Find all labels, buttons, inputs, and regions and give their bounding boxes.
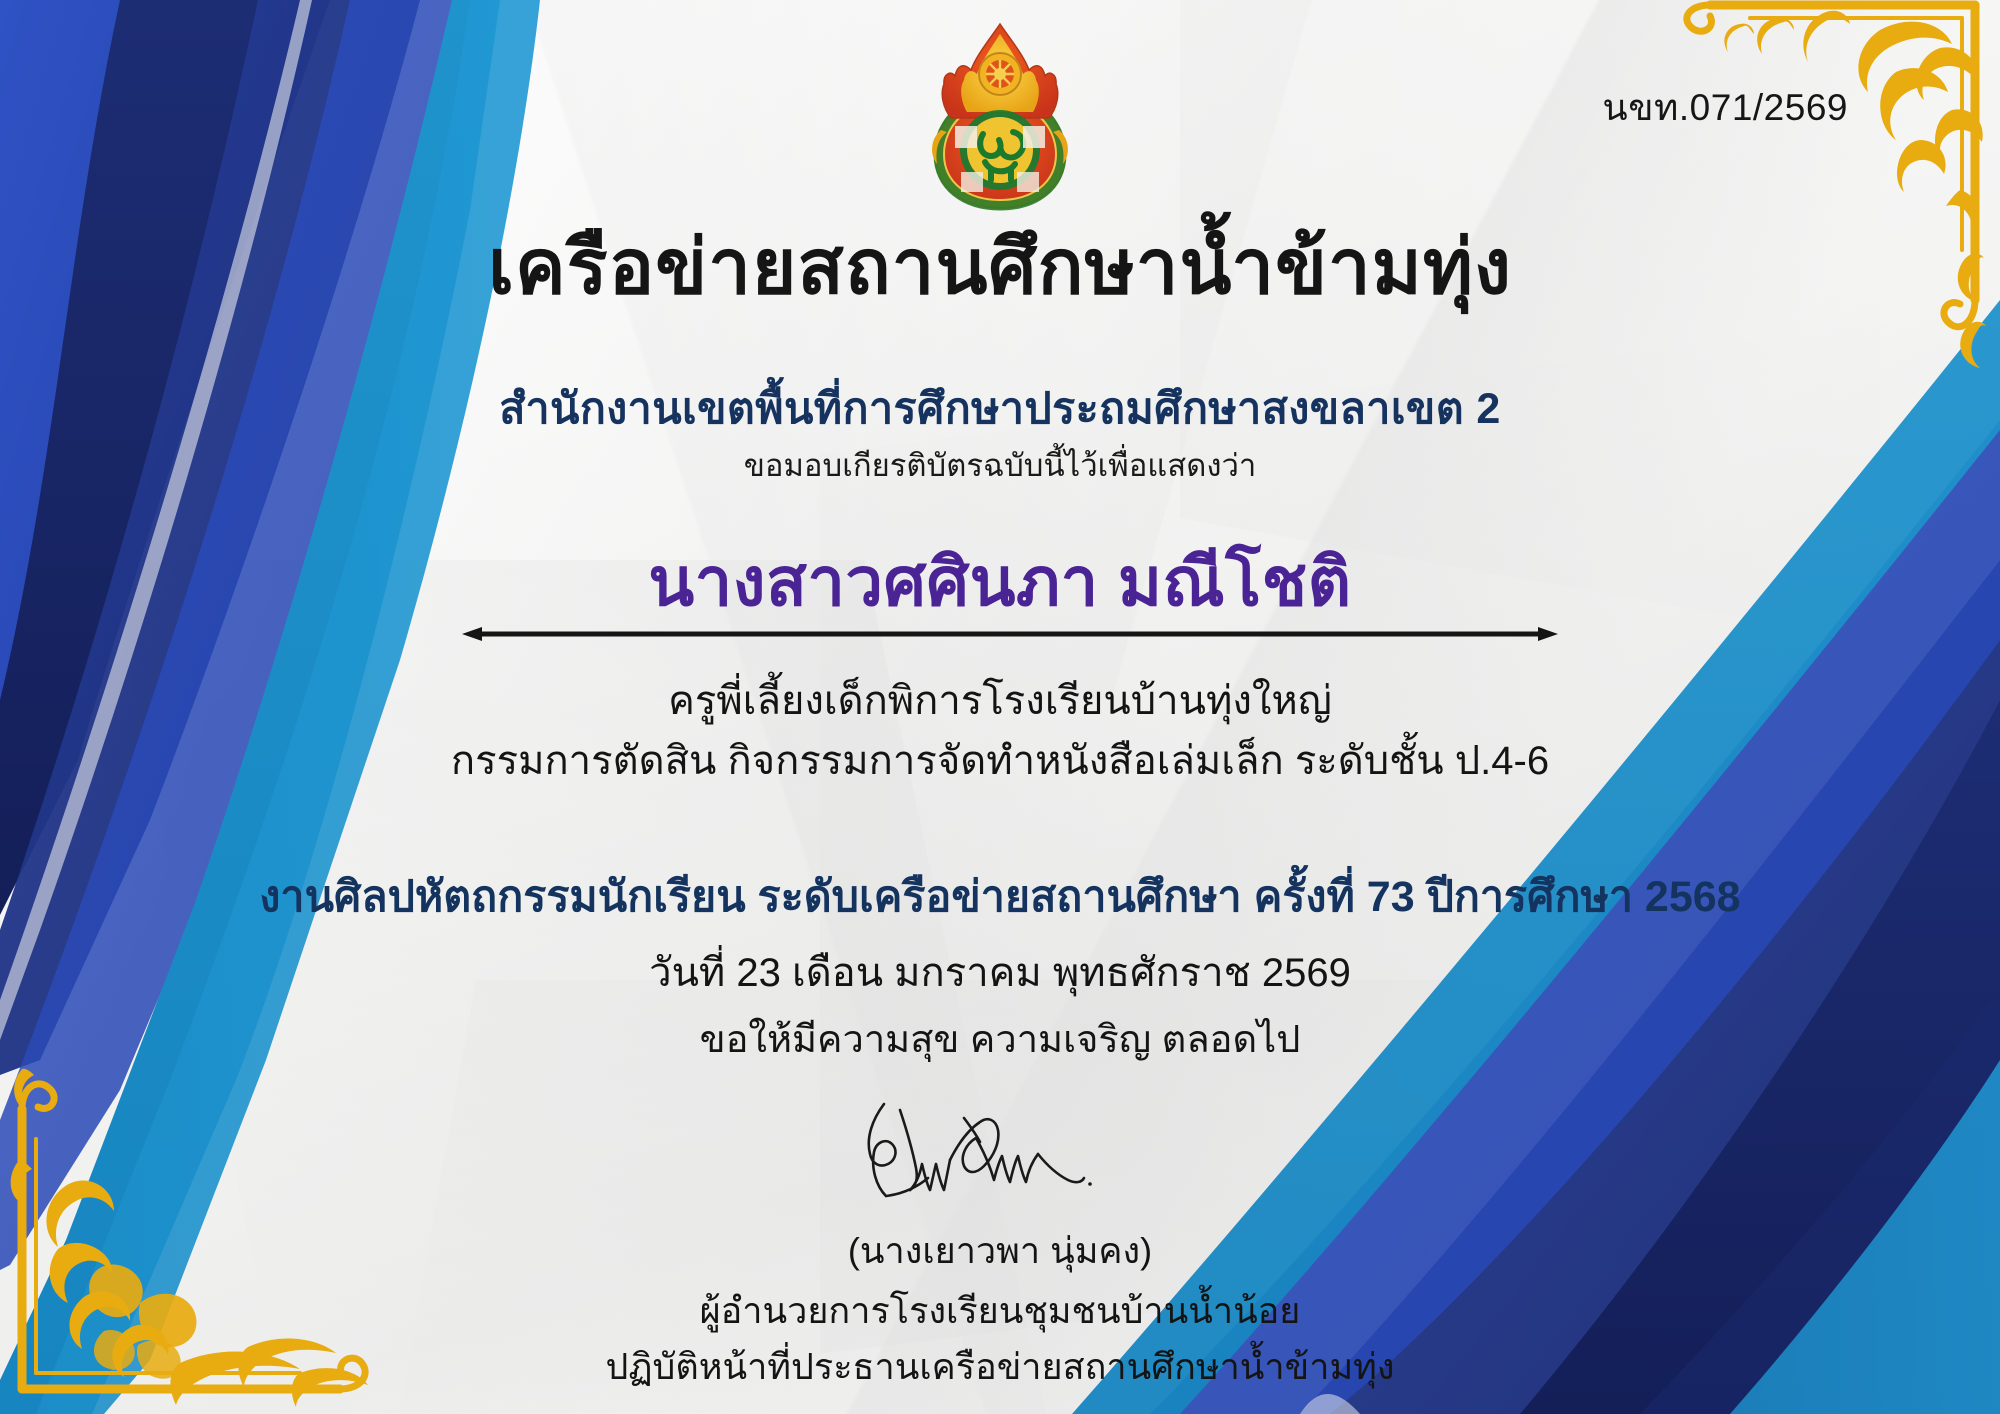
signer-name: (นางเยาวพา นุ่มคง) (0, 1222, 2000, 1279)
handwritten-signature (850, 1098, 1150, 1208)
event-name: งานศิลปหัตถกรรมนักเรียน ระดับเครือข่ายสถ… (0, 862, 2000, 930)
recipient-role-line-1: ครูพี่เลี้ยงเด็กพิการโรงเรียนบ้านทุ่งใหญ… (0, 668, 2000, 732)
decorative-divider-rule (460, 624, 1560, 632)
signer-position-line-1: ผู้อำนวยการโรงเรียนชุมชนบ้านน้ำน้อย (0, 1282, 2000, 1339)
recipient-name: นางสาวศศินภา มณีโชติ (0, 528, 2000, 635)
organization-title: เครือข่ายสถานศึกษาน้ำข้ามทุ่ง (0, 228, 2000, 308)
certificate-canvas: นขท.071/2569 (0, 0, 2000, 1414)
organization-subtitle: สำนักงานเขตพื้นที่การศึกษาประถมศึกษาสงขล… (0, 374, 2000, 442)
wish-line: ขอให้มีความสุข ความเจริญ ตลอดไป (0, 1008, 2000, 1069)
obec-garuda-emblem-icon (925, 22, 1075, 212)
award-preamble: ขอมอบเกียรติบัตรฉบับนี้ไว้เพื่อแสดงว่า (0, 440, 2000, 490)
signer-position-line-2: ปฏิบัติหน้าที่ประธานเครือข่ายสถานศึกษาน้… (0, 1338, 2000, 1395)
certificate-number: นขท.071/2569 (1602, 78, 1848, 137)
recipient-role-line-2: กรรมการตัดสิน กิจกรรมการจัดทำหนังสือเล่ม… (0, 728, 2000, 792)
award-date: วันที่ 23 เดือน มกราคม พุทธศักราช 2569 (0, 940, 2000, 1004)
certificate-content: นขท.071/2569 (0, 0, 2000, 1414)
